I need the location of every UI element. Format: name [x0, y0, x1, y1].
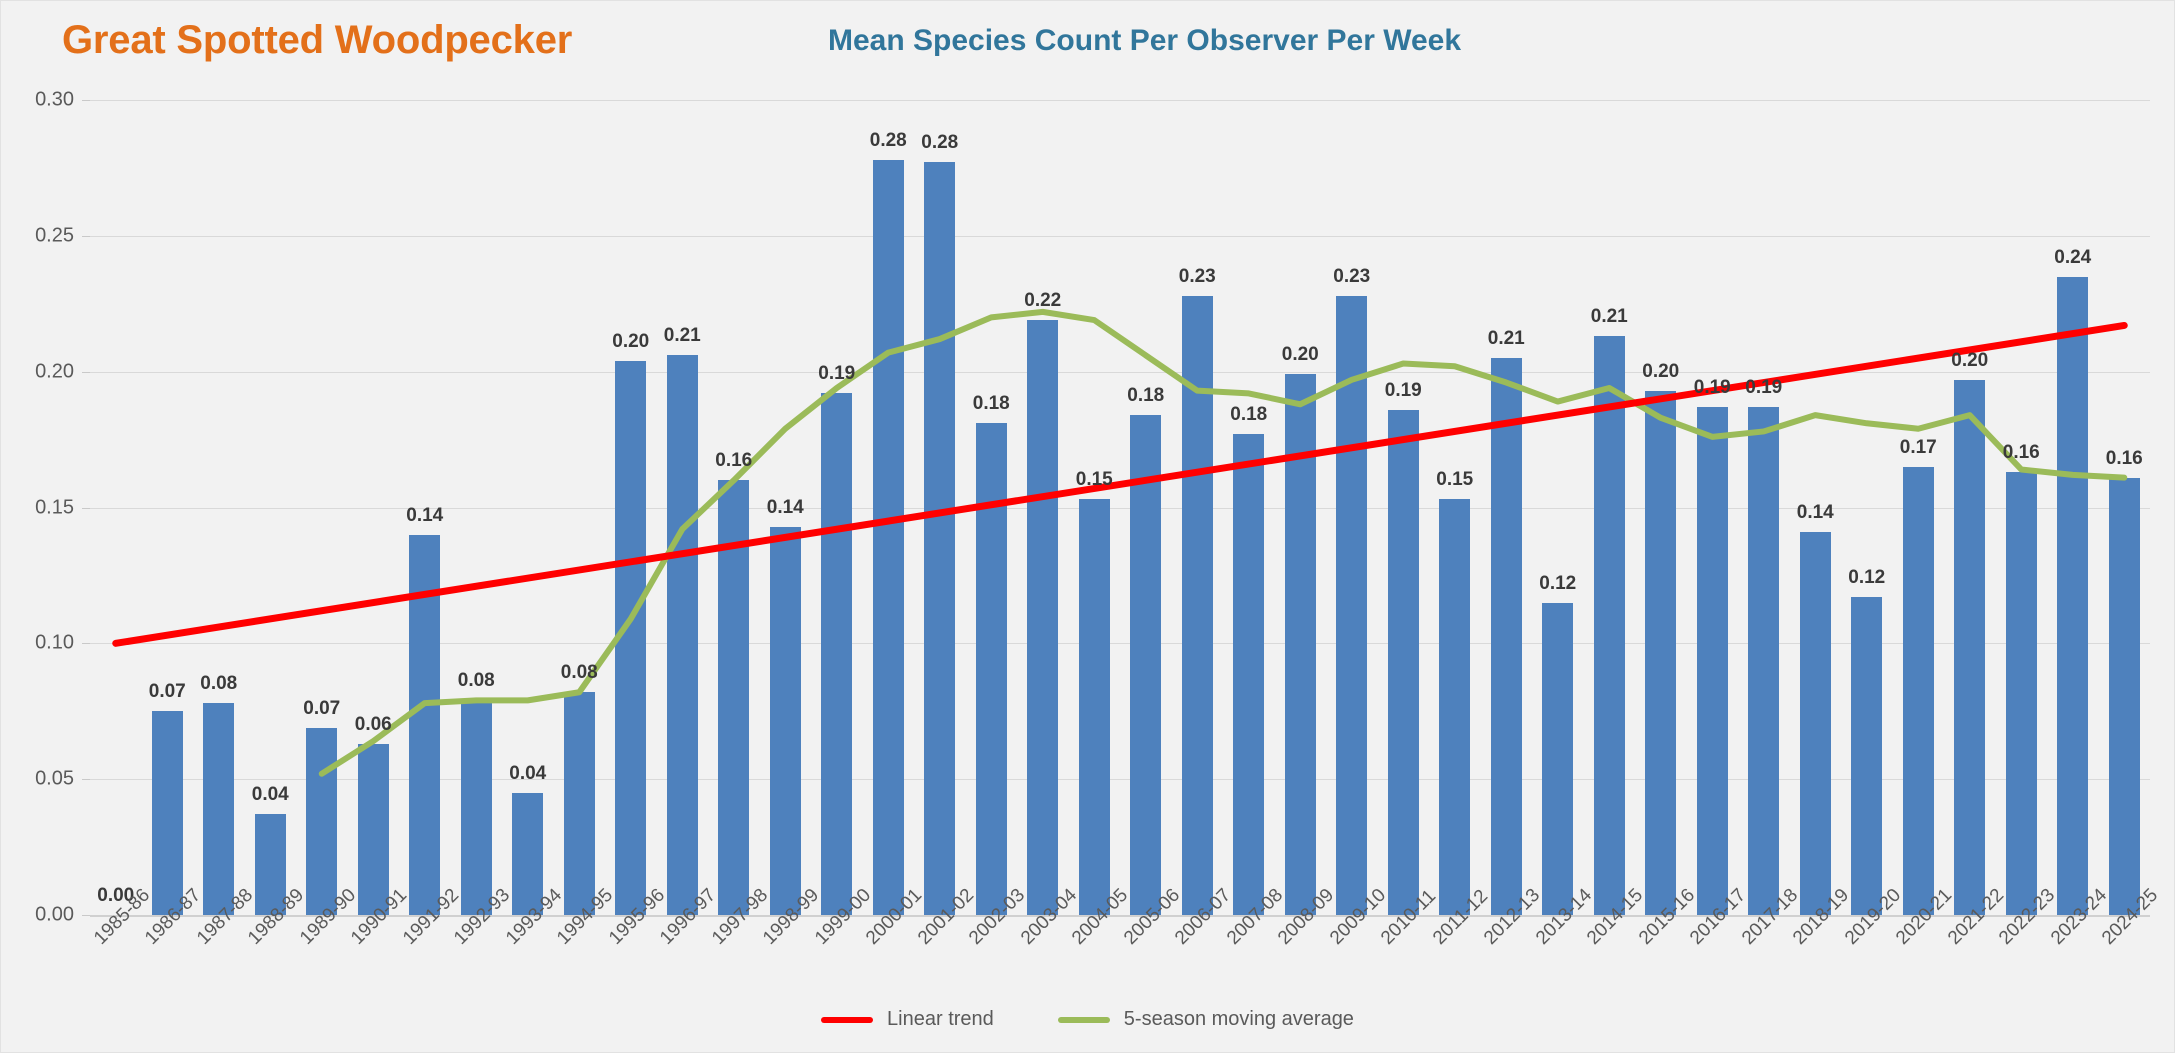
bar-value-label-2003-04: 0.22 [1024, 290, 1061, 312]
bar-value-label-2000-01: 0.28 [870, 130, 907, 152]
bar-1994-95[interactable] [564, 692, 595, 915]
bar-2001-02[interactable] [924, 162, 955, 915]
bar-value-label-2020-21: 0.17 [1900, 437, 1937, 459]
bar-2012-13[interactable] [1491, 358, 1522, 915]
y-axis-tick-mark [82, 643, 90, 644]
bar-value-label-2016-17: 0.19 [1694, 377, 1731, 399]
plot-area: 0.000.050.100.150.200.250.30 0.000.070.0… [90, 100, 2150, 915]
bar-value-label-1994-95: 0.08 [561, 662, 598, 684]
legend-swatch-moving-average [1058, 1017, 1110, 1023]
bar-2015-16[interactable] [1645, 391, 1676, 915]
bar-2021-22[interactable] [1954, 380, 1985, 915]
bar-value-label-2002-03: 0.18 [973, 393, 1010, 415]
bar-2003-04[interactable] [1027, 320, 1058, 915]
bar-2005-06[interactable] [1130, 415, 1161, 915]
title-row: Great Spotted Woodpecker Mean Species Co… [0, 18, 2175, 74]
y-axis-tick-mark [82, 100, 90, 101]
bar-value-label-2024-25: 0.16 [2106, 448, 2143, 470]
y-axis-tick-mark [82, 236, 90, 237]
bar-1992-93[interactable] [461, 700, 492, 915]
bar-value-label-2004-05: 0.15 [1076, 469, 1113, 491]
bar-2024-25[interactable] [2109, 478, 2140, 915]
bar-1999-00[interactable] [821, 393, 852, 915]
bar-value-label-1991-92: 0.14 [406, 505, 443, 527]
gridline [90, 236, 2150, 237]
bar-value-label-1993-94: 0.04 [509, 763, 546, 785]
bar-2022-23[interactable] [2006, 472, 2037, 915]
bar-value-label-2015-16: 0.20 [1642, 361, 1679, 383]
gridline [90, 100, 2150, 101]
legend-label-linear-trend: Linear trend [887, 1008, 994, 1031]
bar-value-label-1992-93: 0.08 [458, 670, 495, 692]
bar-value-label-2022-23: 0.16 [2003, 442, 2040, 464]
y-axis-tick-label: 0.30 [35, 89, 74, 112]
gridline [90, 508, 2150, 509]
bar-value-label-2021-22: 0.20 [1951, 350, 1988, 372]
gridline [90, 779, 2150, 780]
y-axis-tick-mark [82, 915, 90, 916]
bar-1987-88[interactable] [203, 703, 234, 915]
bar-1998-99[interactable] [770, 527, 801, 915]
bar-2010-11[interactable] [1388, 410, 1419, 915]
chart-legend: Linear trend 5-season moving average [0, 1008, 2175, 1031]
bar-value-label-2001-02: 0.28 [921, 132, 958, 154]
bar-2008-09[interactable] [1285, 374, 1316, 915]
bar-1986-87[interactable] [152, 711, 183, 915]
y-axis-tick-label: 0.05 [35, 768, 74, 791]
bar-value-label-2023-24: 0.24 [2054, 247, 2091, 269]
bar-value-label-1990-91: 0.06 [355, 714, 392, 736]
gridline [90, 643, 2150, 644]
bar-value-label-1998-99: 0.14 [767, 497, 804, 519]
bar-value-label-2008-09: 0.20 [1282, 344, 1319, 366]
bar-2009-10[interactable] [1336, 296, 1367, 915]
bar-value-label-2009-10: 0.23 [1333, 266, 1370, 288]
bar-1991-92[interactable] [409, 535, 440, 915]
bar-2006-07[interactable] [1182, 296, 1213, 915]
bar-value-label-1988-89: 0.04 [252, 784, 289, 806]
bar-1995-96[interactable] [615, 361, 646, 915]
bar-value-label-2006-07: 0.23 [1179, 266, 1216, 288]
bar-2002-03[interactable] [976, 423, 1007, 915]
bar-2004-05[interactable] [1079, 499, 1110, 915]
legend-item-moving-average[interactable]: 5-season moving average [1058, 1008, 1354, 1031]
plot-inner: 0.000.050.100.150.200.250.30 0.000.070.0… [90, 100, 2150, 915]
y-axis-tick-mark [82, 508, 90, 509]
bar-value-label-1987-88: 0.08 [200, 673, 237, 695]
chart-title: Great Spotted Woodpecker [62, 18, 572, 63]
y-axis-tick-label: 0.00 [35, 904, 74, 927]
x-axis-labels: 1985-861986-871987-881988-891989-901990-… [90, 920, 2150, 1015]
bar-1990-91[interactable] [358, 744, 389, 915]
bar-2016-17[interactable] [1697, 407, 1728, 915]
bar-value-label-2017-18: 0.19 [1745, 377, 1782, 399]
bar-value-label-2007-08: 0.18 [1230, 404, 1267, 426]
chart-container: Great Spotted Woodpecker Mean Species Co… [0, 0, 2175, 1053]
x-axis-baseline [90, 915, 2150, 917]
bar-2007-08[interactable] [1233, 434, 1264, 915]
bar-value-label-2012-13: 0.21 [1488, 328, 1525, 350]
bar-value-label-1995-96: 0.20 [612, 331, 649, 353]
bar-value-label-2013-14: 0.12 [1539, 573, 1576, 595]
bar-2023-24[interactable] [2057, 277, 2088, 915]
bar-value-label-2010-11: 0.19 [1385, 380, 1422, 402]
y-axis-tick-mark [82, 779, 90, 780]
bar-value-label-1999-00: 0.19 [818, 363, 855, 385]
y-axis-tick-mark [82, 372, 90, 373]
bar-value-label-1997-98: 0.16 [715, 450, 752, 472]
legend-swatch-linear-trend [821, 1017, 873, 1023]
legend-item-linear-trend[interactable]: Linear trend [821, 1008, 994, 1031]
bar-2017-18[interactable] [1748, 407, 1779, 915]
bar-2011-12[interactable] [1439, 499, 1470, 915]
bar-value-label-2011-12: 0.15 [1436, 469, 1473, 491]
y-axis-tick-label: 0.25 [35, 224, 74, 247]
bar-1997-98[interactable] [718, 480, 749, 915]
bar-value-label-1986-87: 0.07 [149, 681, 186, 703]
bar-1996-97[interactable] [667, 355, 698, 915]
bar-2020-21[interactable] [1903, 467, 1934, 915]
chart-subtitle: Mean Species Count Per Observer Per Week [828, 24, 1461, 58]
bar-value-label-1996-97: 0.21 [664, 325, 701, 347]
bar-2019-20[interactable] [1851, 597, 1882, 915]
legend-label-moving-average: 5-season moving average [1124, 1008, 1354, 1031]
bar-2000-01[interactable] [873, 160, 904, 915]
y-axis-tick-label: 0.20 [35, 360, 74, 383]
bar-2018-19[interactable] [1800, 532, 1831, 915]
bar-value-label-1989-90: 0.07 [303, 698, 340, 720]
bar-value-label-2019-20: 0.12 [1848, 567, 1885, 589]
y-axis-tick-label: 0.15 [35, 496, 74, 519]
gridline [90, 372, 2150, 373]
bar-value-label-2014-15: 0.21 [1591, 306, 1628, 328]
bar-2013-14[interactable] [1542, 603, 1573, 915]
bar-value-label-2005-06: 0.18 [1127, 385, 1164, 407]
bar-value-label-2018-19: 0.14 [1797, 502, 1834, 524]
y-axis-tick-label: 0.10 [35, 632, 74, 655]
bar-1989-90[interactable] [306, 728, 337, 915]
bar-2014-15[interactable] [1594, 336, 1625, 915]
